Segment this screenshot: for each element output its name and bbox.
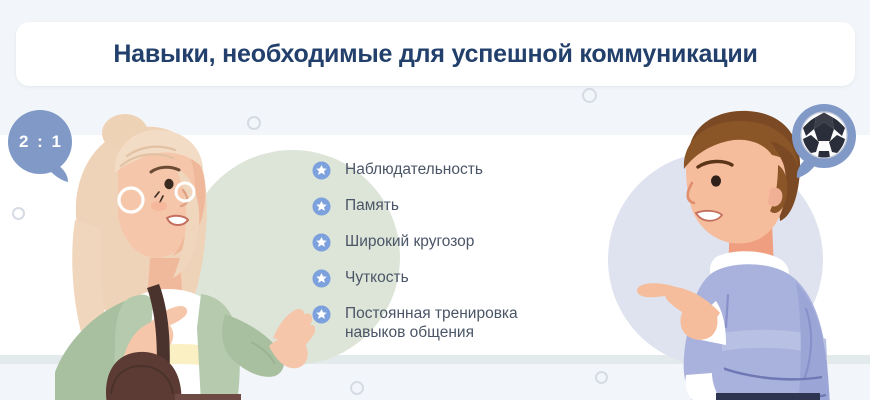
skills-list: Наблюдательность Память Широкий кругозор… <box>312 160 562 342</box>
soccer-ball-icon <box>801 112 847 158</box>
woman-gesturing-illustration <box>55 108 315 400</box>
decorative-ring <box>350 381 364 395</box>
infographic-canvas: Навыки, необходимые для успешной коммуни… <box>0 0 870 400</box>
decorative-ring <box>595 371 608 384</box>
skill-list-item: Память <box>312 196 562 216</box>
score-speech-bubble: 2 : 1 <box>6 110 78 195</box>
star-badge-icon <box>312 269 331 288</box>
speech-bubble-icon <box>789 104 859 186</box>
decorative-ring <box>582 88 597 103</box>
page-title: Навыки, необходимые для успешной коммуни… <box>113 40 757 69</box>
decorative-ring <box>12 207 25 220</box>
star-badge-icon <box>312 233 331 252</box>
skill-label: Чуткость <box>345 268 409 287</box>
star-badge-icon <box>312 197 331 216</box>
skill-label: Наблюдательность <box>345 160 483 179</box>
skill-list-item: Чуткость <box>312 268 562 288</box>
skill-list-item: Постоянная тренировка навыков общения <box>312 304 562 342</box>
skill-list-item: Широкий кругозор <box>312 232 562 252</box>
skill-list-item: Наблюдательность <box>312 160 562 180</box>
star-badge-icon <box>312 305 331 324</box>
header-card: Навыки, необходимые для успешной коммуни… <box>16 22 855 86</box>
skill-label: Постоянная тренировка навыков общения <box>345 304 518 342</box>
speech-bubble-icon <box>6 110 78 190</box>
skill-label: Память <box>345 196 399 215</box>
star-badge-icon <box>312 161 331 180</box>
soccer-speech-bubble <box>789 104 859 191</box>
skill-label: Широкий кругозор <box>345 232 474 251</box>
